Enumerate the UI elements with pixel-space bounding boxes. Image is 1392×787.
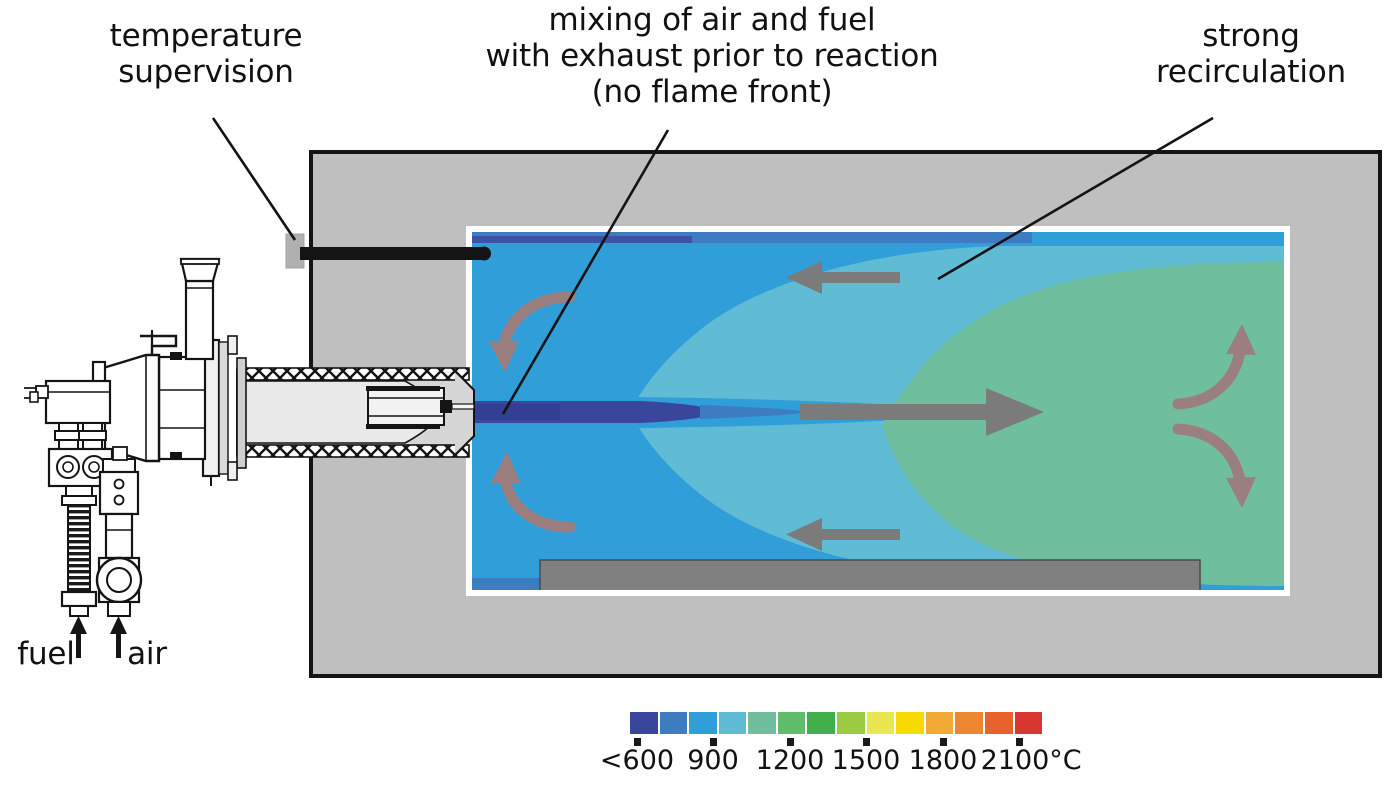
- leader-temperature-supervision: [213, 118, 295, 240]
- colorbar-tick-label-3: 1500: [832, 745, 901, 776]
- colorbar-swatch-7: [837, 712, 865, 734]
- burner-lance-assembly: [237, 358, 474, 468]
- colorbar-tick-label-4: 1800: [909, 745, 978, 776]
- colorbar-swatch-8: [867, 712, 895, 734]
- burner-label-fuel: fuel: [6, 636, 86, 672]
- colorbar-swatch-9: [896, 712, 924, 734]
- colorbar-tick-label-1: 900: [687, 745, 739, 776]
- colorbar-swatch-4: [748, 712, 776, 734]
- colorbar-swatch-10: [926, 712, 954, 734]
- colorbar-swatch-13: [1015, 712, 1043, 734]
- colorbar-swatch-0: [630, 712, 658, 734]
- annotation-temperature-supervision: temperature supervision: [56, 18, 356, 90]
- temperature-colorbar: [630, 712, 1042, 734]
- field-region-top-wall-cool-2: [472, 236, 692, 243]
- colorbar-tick-label-0: <600: [600, 745, 674, 776]
- annotation-mixing-note: mixing of air and fuel with exhaust prio…: [402, 2, 1022, 110]
- burner-label-air: air: [112, 636, 182, 672]
- colorbar-tick-label-5: 2100°C: [981, 745, 1082, 776]
- colorbar-swatch-2: [689, 712, 717, 734]
- burner-body: [24, 259, 219, 461]
- hearth-block: [540, 560, 1200, 592]
- colorbar-swatch-1: [660, 712, 688, 734]
- field-region-cold-jet-core-dense: [472, 404, 560, 420]
- annotation-strong-recirculation: strong recirculation: [1101, 18, 1392, 90]
- colorbar-swatch-11: [955, 712, 983, 734]
- air-line: [97, 447, 141, 658]
- colorbar-swatch-5: [778, 712, 806, 734]
- colorbar-swatch-3: [719, 712, 747, 734]
- diagram-canvas: temperature supervision mixing of air an…: [0, 0, 1392, 787]
- colorbar-swatch-12: [985, 712, 1013, 734]
- fuel-line: [62, 486, 96, 658]
- colorbar-tick-label-2: 1200: [756, 745, 825, 776]
- colorbar-swatch-6: [807, 712, 835, 734]
